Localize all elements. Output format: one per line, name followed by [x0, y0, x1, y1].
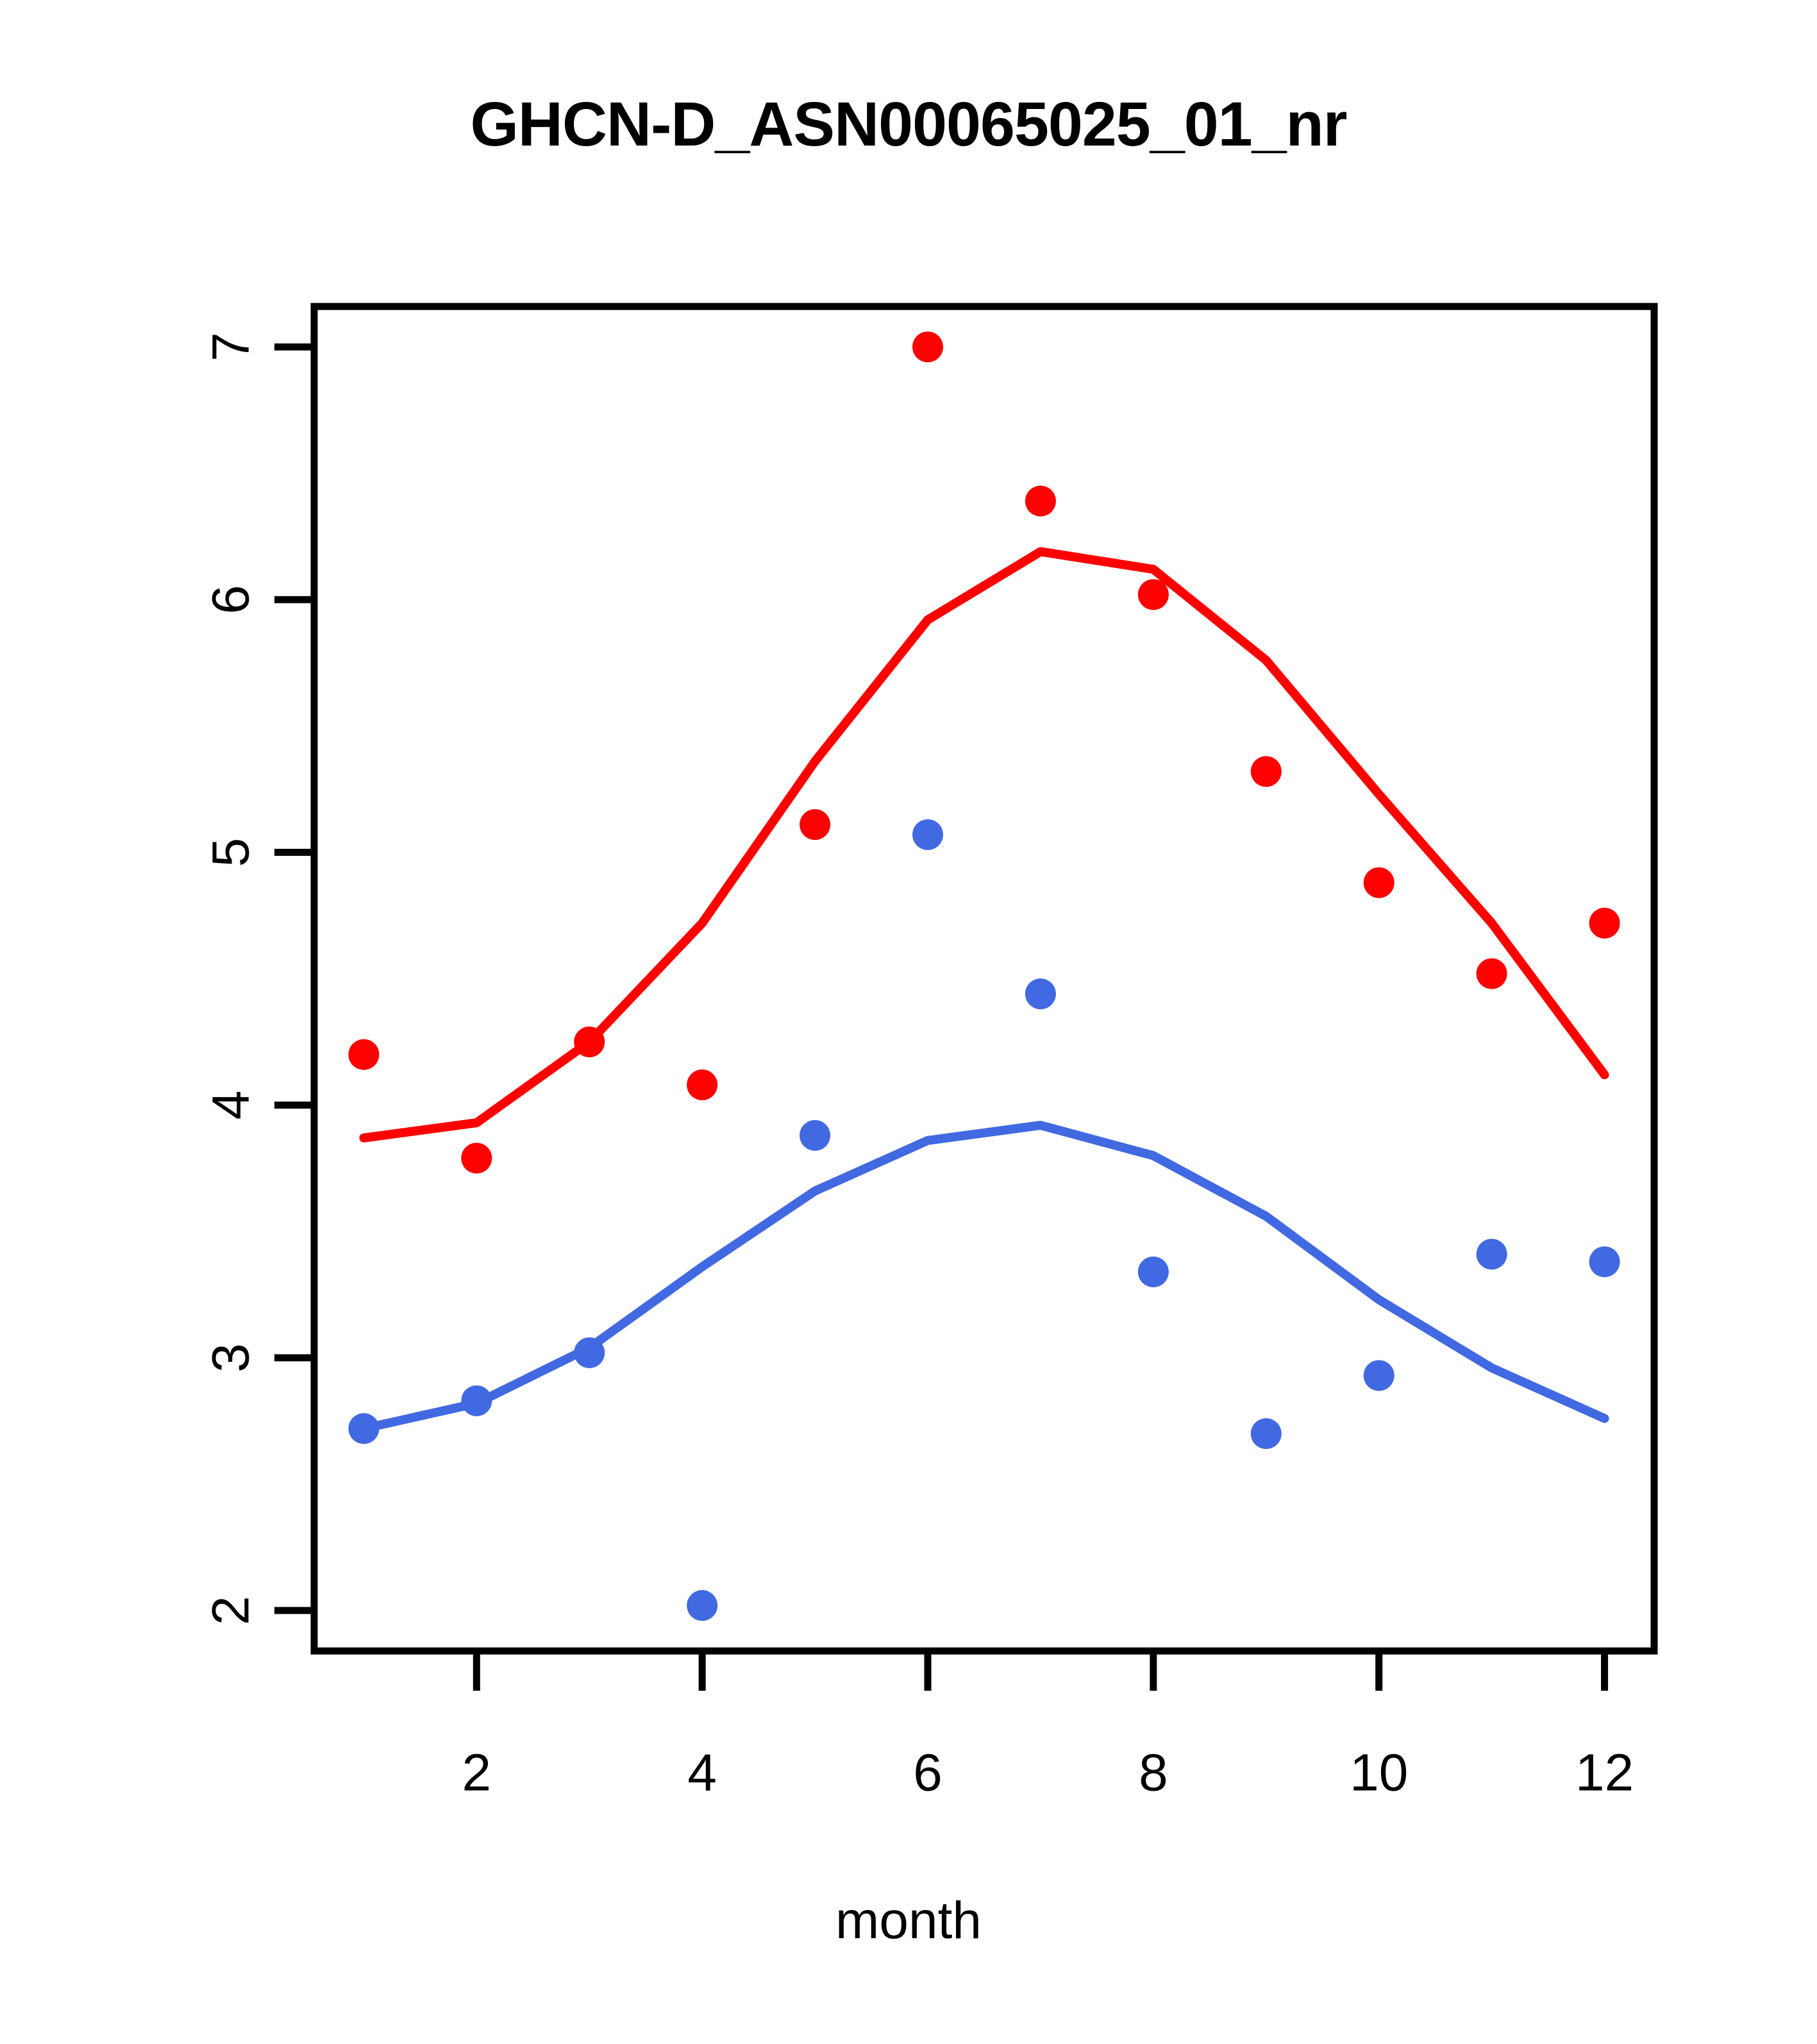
- blue-data-point: [461, 1386, 492, 1416]
- y-axis-tick-labels: 234567: [202, 332, 260, 1625]
- x-tick-label: 2: [462, 1744, 492, 1802]
- red-data-point: [574, 1026, 605, 1057]
- blue-data-points: [348, 819, 1620, 1621]
- red-data-point: [800, 809, 830, 840]
- blue-data-point: [1364, 1360, 1394, 1391]
- y-tick-label: 3: [202, 1343, 260, 1373]
- blue-data-point: [1251, 1418, 1282, 1449]
- y-tick-label: 7: [202, 332, 260, 362]
- red-trend-line: [364, 551, 1604, 1137]
- red-data-point: [1251, 756, 1282, 787]
- plot-frame: [314, 306, 1654, 1651]
- red-data-point: [912, 331, 943, 362]
- blue-data-point: [912, 819, 943, 850]
- blue-data-point: [687, 1590, 717, 1621]
- blue-data-point: [348, 1413, 379, 1444]
- y-tick-label: 2: [202, 1596, 260, 1625]
- x-tick-label: 4: [687, 1744, 717, 1802]
- y-tick-label: 6: [202, 585, 260, 614]
- x-axis-label: month: [0, 1895, 1817, 1947]
- red-data-point: [1138, 579, 1169, 610]
- red-data-point: [1589, 908, 1620, 939]
- red-data-points: [348, 331, 1620, 1173]
- red-data-point: [687, 1069, 717, 1100]
- blue-data-point: [1477, 1239, 1507, 1269]
- y-tick-label: 4: [202, 1091, 260, 1120]
- blue-data-point: [1589, 1246, 1620, 1277]
- red-data-point: [1364, 867, 1394, 898]
- x-axis-ticks: [476, 1651, 1604, 1691]
- blue-line-path: [364, 1125, 1604, 1428]
- x-tick-label: 8: [1139, 1744, 1168, 1802]
- red-line-path: [364, 551, 1604, 1137]
- x-tick-label: 6: [913, 1744, 942, 1802]
- red-data-point: [1477, 959, 1507, 989]
- chart-canvas: 234567 24681012: [0, 0, 1817, 2044]
- x-axis-tick-labels: 24681012: [462, 1744, 1634, 1802]
- blue-trend-line: [364, 1125, 1604, 1428]
- blue-data-point: [800, 1120, 830, 1151]
- y-tick-label: 5: [202, 838, 260, 867]
- red-data-point: [348, 1039, 379, 1070]
- red-data-point: [1025, 486, 1056, 517]
- red-data-point: [461, 1143, 492, 1173]
- chart-figure: GHCN-D_ASN00065025_01_nr 234567 24681012…: [0, 0, 1817, 2044]
- y-axis-ticks: [274, 347, 314, 1611]
- blue-data-point: [1138, 1257, 1169, 1287]
- x-tick-label: 10: [1350, 1744, 1408, 1802]
- blue-data-point: [1025, 978, 1056, 1009]
- x-tick-label: 12: [1575, 1744, 1634, 1802]
- blue-data-point: [574, 1337, 605, 1368]
